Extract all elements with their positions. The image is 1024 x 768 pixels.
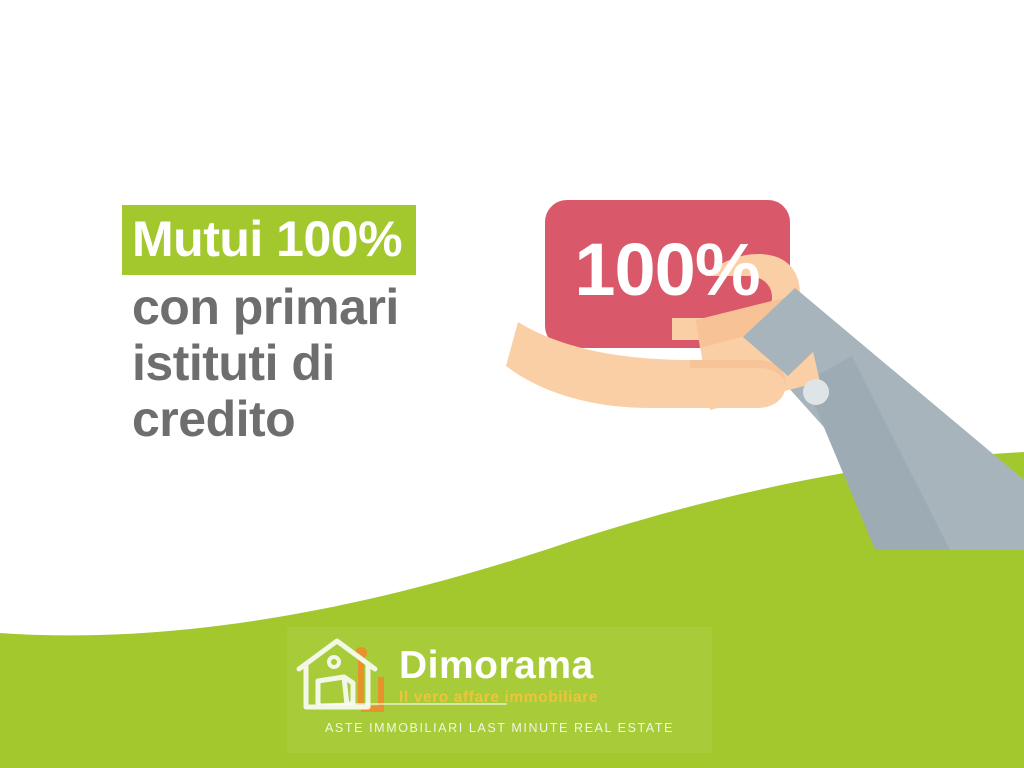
logo-footer-text: ASTE IMMOBILIARI LAST MINUTE REAL ESTATE [287,722,712,735]
headline-block: Mutui 100% con primari istituti di credi… [122,205,522,447]
headline-highlight-wrap: Mutui 100% [122,205,522,275]
card-value-text: 100% [574,228,759,311]
logo-wordmark: Dimorama Il vero affare immobiliare [399,644,712,706]
headline-subtext: con primari istituti di credito [122,279,522,447]
headline-line-3: credito [132,391,522,447]
sleeve-button [803,379,829,405]
headline-highlight: Mutui 100% [122,205,416,275]
logo-name: Dimorama [399,646,712,685]
advertisement-canvas: Mutui 100% con primari istituti di credi… [0,0,1024,768]
headline-line-2: istituti di [132,335,522,391]
house-icon-knob [329,657,339,667]
logo-divider [317,703,507,705]
headline-line-1: con primari [132,279,522,335]
brand-logo-panel: Dimorama Il vero affare immobiliare ASTE… [287,627,712,753]
hand-holding-card-illustration: 100% [500,170,1024,550]
